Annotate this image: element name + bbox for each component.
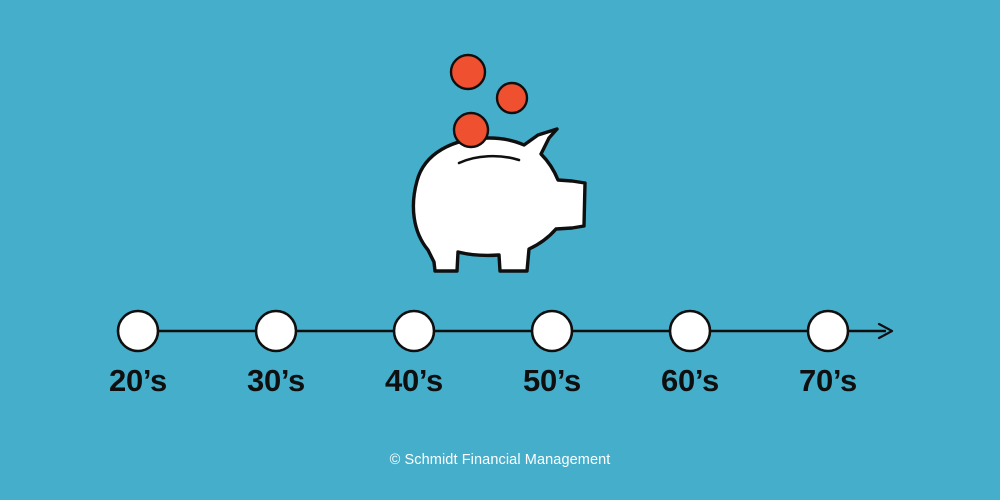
- timeline-label-50s: 50’s: [482, 362, 622, 400]
- timeline-axis: [138, 324, 892, 338]
- timeline-node-70s[interactable]: [808, 311, 848, 351]
- infographic-canvas: 20’s 30’s 40’s 50’s 60’s 70’s © Schmidt …: [0, 0, 1000, 500]
- coin-3: [454, 113, 488, 147]
- timeline-node-50s[interactable]: [532, 311, 572, 351]
- timeline-node-60s[interactable]: [670, 311, 710, 351]
- timeline-node-20s[interactable]: [118, 311, 158, 351]
- timeline-label-40s: 40’s: [344, 362, 484, 400]
- timeline-node-40s[interactable]: [394, 311, 434, 351]
- falling-coins: [451, 55, 527, 147]
- timeline-label-20s: 20’s: [68, 362, 208, 400]
- piggy-bank-body: [413, 129, 585, 271]
- illustration-and-timeline-artwork: [0, 0, 1000, 500]
- piggy-bank: [413, 129, 585, 271]
- footer-copyright: © Schmidt Financial Management: [0, 452, 1000, 468]
- coin-1: [451, 55, 485, 89]
- timeline-label-30s: 30’s: [206, 362, 346, 400]
- timeline-label-70s: 70’s: [758, 362, 898, 400]
- timeline-label-60s: 60’s: [620, 362, 760, 400]
- timeline-node-30s[interactable]: [256, 311, 296, 351]
- coin-2: [497, 83, 527, 113]
